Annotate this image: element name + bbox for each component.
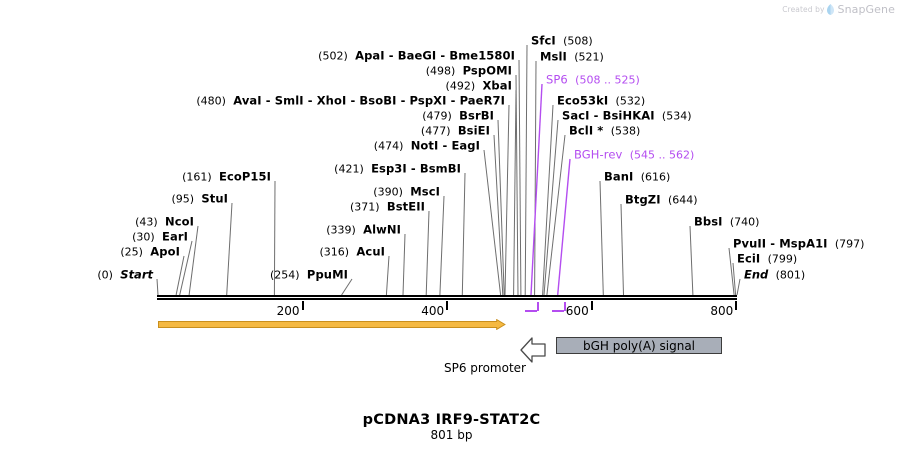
map-label-position: (644)	[668, 194, 698, 207]
sequence-backbone-bottom	[157, 298, 737, 300]
plasmid-size: 801 bp	[0, 428, 903, 442]
watermark-created-by: Created by	[782, 5, 824, 14]
map-label-names: NotI - EagI	[411, 139, 480, 153]
leader-line-apoi	[176, 256, 184, 295]
map-label-names: BanI	[604, 170, 633, 184]
map-label-names: AlwNI	[363, 223, 401, 237]
map-label-acui[interactable]: (316) AcuI	[320, 246, 386, 259]
map-label-esp3i[interactable]: (421) Esp3I - BsmBI	[334, 163, 461, 176]
ruler-tick-label-200: 200	[277, 304, 302, 318]
leader-line-bani	[600, 181, 603, 295]
map-label-names: SfcI	[531, 34, 556, 48]
map-label-eari[interactable]: (30) EarI	[132, 231, 188, 244]
map-label-pvuii[interactable]: PvuII - MspA1I (797)	[733, 238, 864, 251]
leader-line-bghrev	[558, 159, 570, 295]
map-label-position: (498)	[426, 65, 456, 78]
ruler-tick-label-600: 600	[566, 304, 591, 318]
map-label-names: MslI	[540, 50, 567, 64]
map-label-sfci[interactable]: SfcI (508)	[531, 35, 593, 48]
ruler-tick-200	[302, 301, 304, 310]
leader-line-avai	[505, 105, 509, 295]
map-label-position: (474)	[374, 140, 404, 153]
map-label-names: XbaI	[482, 79, 512, 93]
map-label-pspomi[interactable]: (498) PspOMI	[426, 65, 512, 78]
bgh-polya-signal-box[interactable]: bGH poly(A) signal	[556, 337, 722, 354]
map-label-names: EcoP15I	[219, 170, 271, 184]
map-label-bsrbi[interactable]: (479) BsrBI	[422, 110, 494, 123]
map-label-msci[interactable]: (390) MscI	[373, 186, 440, 199]
map-label-position: (797)	[835, 238, 865, 251]
map-label-position: (316)	[320, 246, 350, 259]
leader-line-pspomi	[516, 75, 518, 295]
map-label-position: (492)	[446, 80, 476, 93]
leader-line-bbsi	[690, 226, 693, 295]
feature-range-tick-sp6	[537, 302, 539, 311]
map-label-start[interactable]: (0) Start	[97, 269, 153, 282]
leader-line-noti	[484, 150, 501, 295]
map-label-names: Start	[120, 268, 153, 282]
leader-line-alwni	[403, 234, 405, 295]
map-label-bani[interactable]: BanI (616)	[604, 171, 670, 184]
map-label-names: PvuII - MspA1I	[733, 237, 828, 251]
map-label-names: SP6	[546, 73, 568, 87]
map-label-names: ApoI	[150, 245, 180, 259]
map-label-btgzi[interactable]: BtgZI (644)	[625, 194, 698, 207]
map-label-position: (799)	[768, 253, 798, 266]
leader-line-start	[157, 279, 158, 295]
map-label-alwni[interactable]: (339) AlwNI	[326, 224, 401, 237]
map-label-position: (254)	[270, 269, 300, 282]
leader-line-sfci	[525, 45, 527, 295]
leader-line-apai	[519, 60, 521, 295]
map-label-position: (339)	[326, 224, 356, 237]
map-label-eco53ki[interactable]: Eco53kI (532)	[557, 95, 645, 108]
leader-line-msli	[535, 61, 536, 295]
map-label-position: (616)	[641, 171, 671, 184]
snapgene-logo-icon	[827, 4, 834, 15]
map-label-stui[interactable]: (95) StuI	[171, 193, 228, 206]
map-label-names: End	[744, 268, 768, 282]
leader-line-stui	[227, 203, 232, 295]
map-label-names: BbsI	[694, 215, 723, 229]
leader-line-msci	[440, 196, 444, 295]
gene-arrow[interactable]	[158, 319, 506, 330]
map-label-names: EarI	[162, 230, 188, 244]
map-label-position: (43)	[135, 216, 158, 229]
map-label-position: (740)	[730, 216, 760, 229]
map-label-apai[interactable]: (502) ApaI - BaeGI - Bme1580I	[318, 50, 515, 63]
leader-line-pvuii	[729, 248, 734, 295]
leader-line-sp6	[531, 84, 542, 295]
map-label-position: (161)	[182, 171, 212, 184]
ruler-tick-600	[591, 301, 593, 310]
map-label-names: BsiEI	[458, 124, 490, 138]
feature-range-bar-sp6[interactable]	[525, 310, 537, 312]
ruler-tick-label-400: 400	[421, 304, 446, 318]
map-label-position: (538)	[611, 125, 641, 138]
map-label-names: AvaI - SmlI - XhoI - BsoBI - PspXI - Pae…	[233, 94, 505, 108]
map-label-ecii[interactable]: EciI (799)	[737, 253, 797, 266]
map-label-position: (521)	[574, 51, 604, 64]
map-label-bcli[interactable]: BclI * (538)	[569, 125, 640, 138]
leader-line-end	[737, 279, 740, 295]
map-label-names: BGH-rev	[574, 148, 622, 162]
map-label-names: PpuMI	[307, 268, 348, 282]
map-label-position: (421)	[334, 163, 364, 176]
map-label-position: (30)	[132, 231, 155, 244]
map-label-names: SacI - BsiHKAI	[562, 109, 655, 123]
map-label-names: PspOMI	[463, 64, 512, 78]
map-label-msli[interactable]: MslI (521)	[540, 51, 604, 64]
map-label-names: StuI	[201, 192, 228, 206]
map-label-position: (545 .. 562)	[630, 149, 695, 162]
leader-line-eco53ki	[543, 105, 553, 295]
map-label-names: BsrBI	[459, 109, 494, 123]
leader-line-btgzi	[621, 204, 624, 295]
map-label-position: (502)	[318, 50, 348, 63]
feature-range-tick-bghrev	[564, 302, 566, 311]
map-label-position: (0)	[97, 269, 113, 282]
leader-line-ecii	[733, 263, 736, 295]
map-label-noti[interactable]: (474) NotI - EagI	[374, 140, 480, 153]
map-label-position: (480)	[196, 95, 226, 108]
map-label-bsiei[interactable]: (477) BsiEI	[421, 125, 490, 138]
map-label-position: (534)	[662, 110, 692, 123]
map-label-ppumi[interactable]: (254) PpuMI	[270, 269, 348, 282]
map-label-names: EciI	[737, 252, 760, 266]
map-label-names: NcoI	[165, 215, 194, 229]
leader-line-ncoi	[189, 226, 198, 295]
map-label-names: ApaI - BaeGI - Bme1580I	[355, 49, 515, 63]
map-label-apoi[interactable]: (25) ApoI	[120, 246, 180, 259]
leader-line-esp3i	[462, 173, 465, 295]
snapgene-watermark: Created by SnapGene	[782, 3, 895, 16]
leader-line-saci	[544, 120, 558, 295]
feature-range-bar-bghrev[interactable]	[552, 310, 564, 312]
leader-line-bsiei	[494, 135, 503, 295]
map-label-bstei[interactable]: (371) BstEII	[350, 201, 425, 214]
leader-line-bstei	[426, 211, 429, 295]
map-label-position: (479)	[422, 110, 452, 123]
leader-line-bsrbi	[498, 120, 504, 295]
map-label-names: BtgZI	[625, 193, 661, 207]
leader-line-xbai	[514, 90, 516, 295]
map-label-avai[interactable]: (480) AvaI - SmlI - XhoI - BsoBI - PspXI…	[196, 95, 505, 108]
watermark-brand: SnapGene	[837, 3, 895, 16]
map-label-position: (508 .. 525)	[575, 74, 640, 87]
map-label-position: (508)	[563, 35, 593, 48]
ruler-tick-800	[735, 301, 737, 310]
map-label-position: (477)	[421, 125, 451, 138]
snapgene-map-canvas: Created by SnapGene (0) Start(25) ApoI(3…	[0, 0, 903, 449]
leader-line-acui	[386, 256, 389, 295]
map-label-names: Esp3I - BsmBI	[371, 162, 461, 176]
sp6-promoter-label: SP6 promoter	[444, 361, 526, 375]
map-label-end[interactable]: End (801)	[744, 269, 805, 282]
map-label-bghrev[interactable]: BGH-rev (545 .. 562)	[574, 149, 694, 162]
map-label-saci[interactable]: SacI - BsiHKAI (534)	[562, 110, 692, 123]
map-label-position: (371)	[350, 201, 380, 214]
ruler-tick-400	[446, 301, 448, 310]
map-label-position: (801)	[776, 269, 806, 282]
map-label-ncoi[interactable]: (43) NcoI	[135, 216, 194, 229]
map-label-xbai[interactable]: (492) XbaI	[446, 80, 512, 93]
map-label-position: (25)	[120, 246, 143, 259]
map-label-names: BclI *	[569, 124, 603, 138]
leader-line-bcli	[547, 135, 565, 295]
map-label-names: Eco53kI	[557, 94, 608, 108]
leader-line-eari	[180, 241, 192, 295]
gene-arrow-shape	[159, 320, 505, 330]
map-label-names: AcuI	[356, 245, 385, 259]
map-label-position: (532)	[616, 95, 646, 108]
map-label-names: BstEII	[387, 200, 425, 214]
map-label-position: (390)	[373, 186, 403, 199]
map-label-sp6[interactable]: SP6 (508 .. 525)	[546, 74, 640, 87]
map-label-position: (95)	[171, 193, 194, 206]
ruler-tick-label-800: 800	[710, 304, 735, 318]
map-label-ecop15i[interactable]: (161) EcoP15I	[182, 171, 271, 184]
map-label-names: MscI	[410, 185, 440, 199]
map-label-bbsi[interactable]: BbsI (740)	[694, 216, 759, 229]
plasmid-title: pCDNA3 IRF9-STAT2C	[0, 412, 903, 428]
